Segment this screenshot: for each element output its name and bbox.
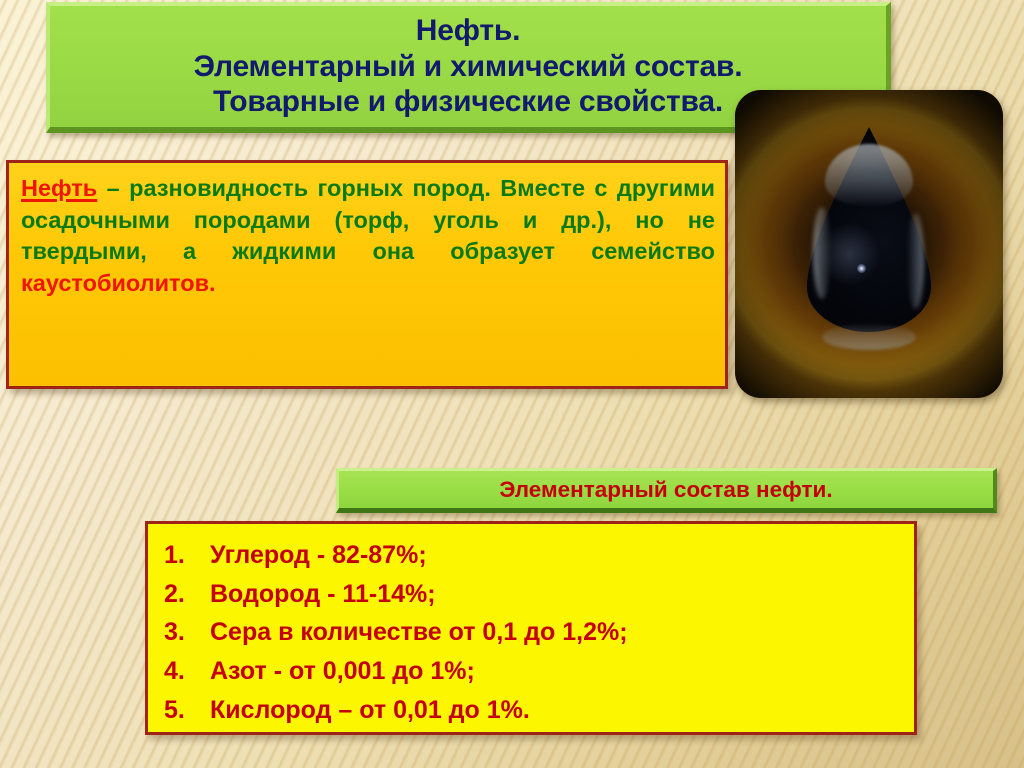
list-item-label: Сера в количестве от 0,1 до 1,2%; (210, 613, 900, 652)
list-item-number: 1. (164, 536, 210, 575)
photo-vignette (735, 90, 1003, 398)
definition-keyword: Нефть (21, 175, 97, 201)
list-item-label: Азот - от 0,001 до 1%; (210, 652, 900, 691)
list-item: 1. Углерод - 82-87%; (164, 536, 900, 575)
page-title: Нефть. Элементарный и химический состав.… (186, 13, 751, 119)
list-item-number: 5. (164, 691, 210, 730)
title-line-1: Нефть. (194, 13, 743, 48)
composition-panel: 1. Углерод - 82-87%; 2. Водород - 11-14%… (145, 521, 917, 735)
list-item: 2. Водород - 11-14%; (164, 575, 900, 614)
composition-list: 1. Углерод - 82-87%; 2. Водород - 11-14%… (164, 536, 900, 729)
list-item-number: 4. (164, 652, 210, 691)
definition-text: Нефть – разновидность горных пород. Вмес… (21, 173, 715, 299)
definition-body: разновидность горных пород. Вместе с дру… (21, 175, 715, 264)
slide-canvas: Нефть. Элементарный и химический состав.… (0, 0, 1024, 768)
oil-drop-image (735, 90, 1003, 398)
list-item-number: 3. (164, 613, 210, 652)
definition-dash: – (107, 175, 120, 201)
list-item: 3. Сера в количестве от 0,1 до 1,2%; (164, 613, 900, 652)
list-item-number: 2. (164, 575, 210, 614)
list-item-label: Углерод - 82-87%; (210, 536, 900, 575)
list-item-label: Кислород – от 0,01 до 1%. (210, 691, 900, 730)
subheading-text: Элементарный состав нефти. (499, 477, 832, 503)
title-line-3: Товарные и физические свойства. (194, 84, 743, 119)
title-line-2: Элементарный и химический состав. (194, 49, 743, 84)
list-item: 4. Азот - от 0,001 до 1%; (164, 652, 900, 691)
subheading-panel: Элементарный состав нефти. (336, 468, 997, 513)
list-item-label: Водород - 11-14%; (210, 575, 900, 614)
definition-highlight: каустобиолитов. (21, 270, 216, 296)
list-item: 5. Кислород – от 0,01 до 1%. (164, 691, 900, 730)
definition-panel: Нефть – разновидность горных пород. Вмес… (6, 160, 728, 389)
